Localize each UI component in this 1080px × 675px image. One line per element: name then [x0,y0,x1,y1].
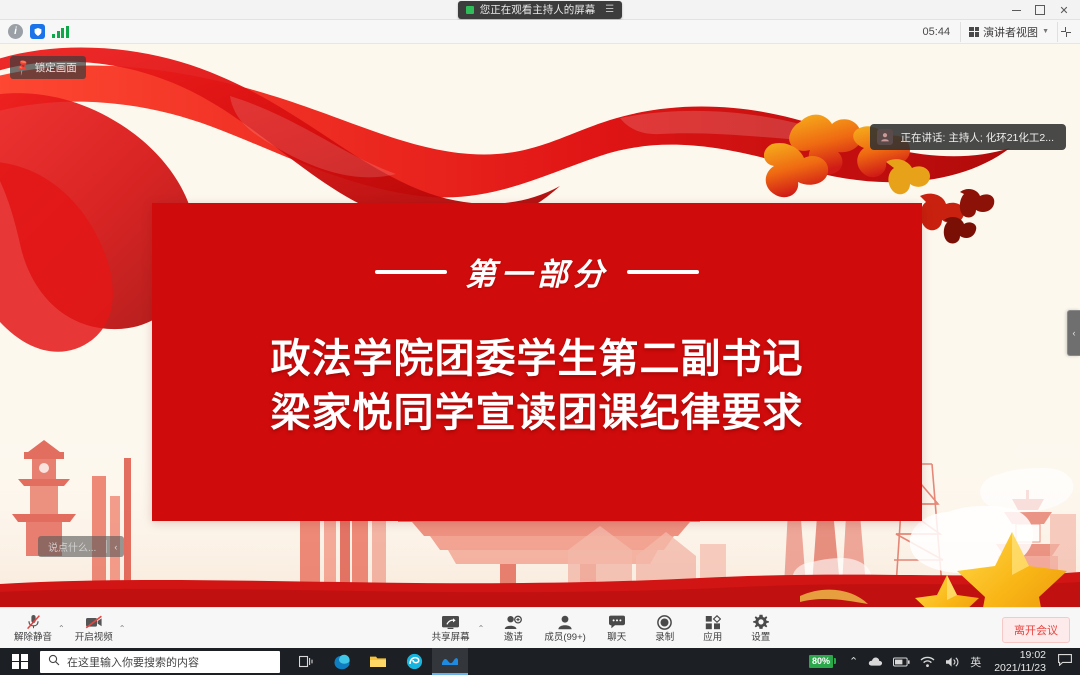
meeting-toolbar: 解除静音 ⌃ 开启视频 ⌃ [0,607,1080,648]
record-button[interactable]: 录制 [642,614,688,643]
share-screen-label: 共享屏幕 [432,633,470,643]
taskbar-search-placeholder: 在这里输入你要搜索的内容 [67,654,199,670]
volume-icon[interactable] [940,656,965,668]
window-controls: ✕ [1004,0,1076,20]
apps-icon [705,614,721,631]
share-notice-text: 您正在观看主持人的屏幕 [480,1,596,19]
mini-chat-placeholder: 说点什么... [38,539,106,554]
view-mode-selector[interactable]: 演讲者视图 ▼ [960,22,1058,42]
start-video-button[interactable]: 开启视频 [69,614,119,643]
record-label: 录制 [655,633,674,643]
share-screen-icon [441,614,460,631]
active-speaker-chip[interactable]: 正在讲话: 主持人; 化环21化工2... [870,124,1066,150]
edge-browser-icon[interactable] [324,648,360,675]
clock-date: 2021/11/23 [994,662,1046,674]
hamburger-icon[interactable]: ☰ [605,1,614,19]
system-tray: 80% ⌃ 英 19:02 2021/11/23 [809,649,1080,673]
toolbar-left-group: 解除静音 ⌃ 开启视频 ⌃ [0,614,129,643]
slide-section-label: 第一部分 [465,249,609,294]
start-button[interactable] [0,648,40,675]
shared-screen-stage: 第一部分 政法学院团委学生第二副书记 梁家悦同学宣读团课纪律要求 📌 锁定画面 … [0,44,1080,607]
toolbar-center-group: 共享屏幕 ⌃ 邀请 [426,614,784,643]
close-button[interactable]: ✕ [1052,0,1076,20]
dash-right-icon [627,270,699,274]
share-screen-button[interactable]: 共享屏幕 [426,614,476,643]
info-icon[interactable]: i [8,24,23,39]
slide-section-marker: 第一部分 [375,249,699,294]
chat-icon [608,614,626,631]
battery-percent-indicator[interactable]: 80% [809,655,836,668]
signal-strength-icon[interactable] [52,26,69,38]
participants-label: 成员(99+) [544,633,585,643]
mini-chat-input[interactable]: 说点什么... ‹ [38,536,124,557]
view-mode-label: 演讲者视图 [983,24,1038,40]
active-speaker-label: 正在讲话: 主持人; 化环21化工2... [901,130,1054,145]
start-video-label: 开启视频 [75,633,113,643]
windows-taskbar: 在这里输入你要搜索的内容 80% [0,648,1080,675]
cloud-icon[interactable] [863,656,888,667]
shield-icon[interactable] [30,24,45,39]
chat-button[interactable]: 聊天 [594,614,640,643]
slide-title-line2: 梁家悦同学宣读团课纪律要求 [271,386,804,440]
chevron-left-icon[interactable]: ‹ [107,542,124,552]
audio-options-caret[interactable]: ⌃ [58,624,69,642]
task-view-icon[interactable] [288,648,324,675]
record-icon [657,614,672,631]
leave-meeting-button[interactable]: 离开会议 [1002,617,1070,643]
meeting-view-controls: 05:44 演讲者视图 ▼ [913,22,1080,42]
camera-off-icon [85,614,103,631]
action-center-icon[interactable] [1054,654,1072,669]
ime-indicator[interactable]: 英 [965,654,986,670]
maximize-button[interactable] [1028,0,1052,20]
screen-share-notice[interactable]: 您正在观看主持人的屏幕 ☰ [458,1,622,19]
taskbar-clock[interactable]: 19:02 2021/11/23 [986,649,1054,673]
slide-title: 政法学院团委学生第二副书记 梁家悦同学宣读团课纪律要求 [271,332,804,440]
file-explorer-icon[interactable] [360,648,396,675]
avatar-icon [877,129,893,145]
sharing-indicator-icon [466,6,474,14]
windows-start-icon [12,654,28,670]
unmute-button[interactable]: 解除静音 [8,614,58,643]
title-bar: 您正在观看主持人的屏幕 ☰ ✕ [0,0,1080,20]
slide-red-card: 第一部分 政法学院团委学生第二副书记 梁家悦同学宣读团课纪律要求 [152,203,922,521]
browser-icon[interactable] [396,648,432,675]
dash-left-icon [375,270,447,274]
invite-button[interactable]: 邀请 [490,614,536,643]
lock-screen-label: 锁定画面 [35,60,77,75]
unmute-label: 解除静音 [14,633,52,643]
wifi-icon[interactable] [915,656,940,668]
slide-title-line1: 政法学院团委学生第二副书记 [271,332,804,386]
microphone-muted-icon [26,614,41,631]
clock-time: 19:02 [994,649,1046,661]
lock-screen-button[interactable]: 📌 锁定画面 [10,56,86,79]
battery-percent-label: 80% [809,655,833,668]
meeting-status-icons: i [0,24,69,39]
invite-icon [504,614,522,631]
meeting-app-icon[interactable] [432,648,468,675]
side-panel-toggle[interactable]: ‹ [1067,310,1080,356]
chat-label: 聊天 [607,633,626,643]
speaker-view-icon [969,27,979,37]
minimize-button[interactable] [1004,0,1028,20]
taskbar-pinned-apps [288,648,468,675]
search-icon [48,654,60,669]
settings-label: 设置 [751,633,770,643]
pin-icon: 📌 [14,58,33,77]
apps-label: 应用 [703,633,722,643]
battery-tip [834,658,836,664]
chevron-up-icon[interactable]: ⌃ [844,655,863,668]
settings-button[interactable]: 设置 [738,614,784,643]
battery-icon[interactable] [888,657,915,667]
participants-button[interactable]: 成员(99+) [538,614,591,643]
share-options-caret[interactable]: ⌃ [478,624,489,642]
settings-gear-icon [753,614,769,631]
chevron-down-icon: ▼ [1042,28,1049,35]
meeting-timer: 05:44 [913,26,961,38]
meeting-window: 您正在观看主持人的屏幕 ☰ ✕ i 05:44 演讲者视图 ▼ [0,0,1080,675]
participants-icon [557,614,573,631]
apps-button[interactable]: 应用 [690,614,736,643]
taskbar-search-input[interactable]: 在这里输入你要搜索的内容 [40,651,280,673]
invite-label: 邀请 [504,633,523,643]
video-options-caret[interactable]: ⌃ [119,624,130,642]
meeting-info-bar: i 05:44 演讲者视图 ▼ [0,20,1080,44]
